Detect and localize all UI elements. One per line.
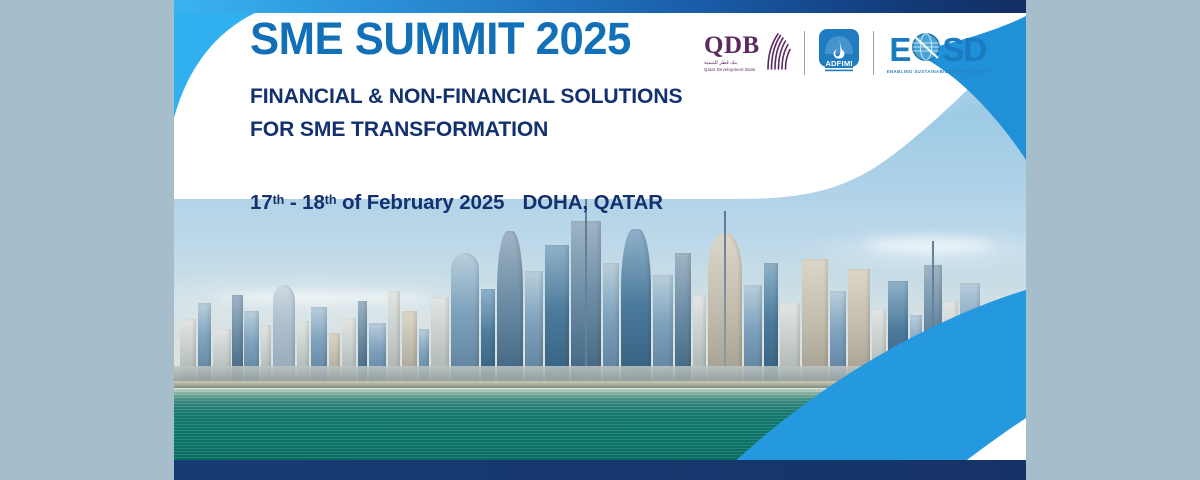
event-subtitle: FINANCIAL & NON-FINANCIAL SOLUTIONS FOR …: [250, 80, 711, 147]
qdb-acronym: QDB: [704, 34, 760, 58]
eosd-letter-s: S: [942, 33, 963, 66]
date-dash: -: [284, 191, 302, 214]
date-start-suffix: th: [273, 193, 285, 207]
logo-separator: [873, 31, 874, 75]
date-rest: of February 2025: [336, 191, 504, 214]
qdb-english-name: Qatar Development Bank: [704, 67, 760, 72]
partner-logos: QDB بنك قطر للتنمية Qatar Development Ba…: [704, 22, 989, 84]
eosd-wordmark: E S D: [887, 32, 989, 66]
subtitle-line-1: FINANCIAL & NON-FINANCIAL SOLUTIONS: [250, 80, 711, 113]
eosd-letter-e: E: [889, 33, 910, 66]
qdb-flame-icon: [765, 32, 791, 75]
corner-accent-bottom-right: [696, 290, 1026, 480]
qdb-arabic-name: بنك قطر للتنمية: [704, 60, 760, 67]
logo-qdb[interactable]: QDB بنك قطر للتنمية Qatar Development Ba…: [704, 32, 791, 75]
adfimi-wordmark: ADFIMI: [825, 59, 852, 68]
date-end-suffix: th: [325, 193, 337, 207]
event-title: SME SUMMIT 2025: [250, 16, 706, 61]
logo-separator: [804, 31, 805, 75]
qdb-text-lockup: QDB بنك قطر للتنمية Qatar Development Ba…: [704, 34, 760, 72]
date-start: 17: [250, 191, 273, 214]
eosd-globe-icon: [911, 32, 941, 67]
logo-adfimi[interactable]: ADFIMI: [818, 28, 860, 79]
event-banner: SME SUMMIT 2025 FINANCIAL & NON-FINANCIA…: [174, 0, 1026, 480]
bottom-navy-rule: [174, 460, 1026, 480]
eosd-letter-d: D: [963, 33, 986, 66]
page-root: SME SUMMIT 2025 FINANCIAL & NON-FINANCIA…: [0, 0, 1200, 480]
eosd-tagline: ENABLING SUSTAINABILITY WORLDWIDE: [887, 69, 989, 74]
logo-eosd[interactable]: E S D ENABLING SUSTAINABILITY WORLDWIDE: [887, 32, 989, 74]
subtitle-line-2: FOR SME TRANSFORMATION: [250, 113, 711, 146]
headline-block: SME SUMMIT 2025 FINANCIAL & NON-FINANCIA…: [250, 16, 720, 215]
event-date-location: 17th - 18th of February 2025DOHA, QATAR: [250, 191, 720, 215]
event-location: DOHA, QATAR: [522, 191, 663, 214]
date-end: 18: [302, 191, 325, 214]
top-gradient-rule: [174, 0, 1026, 13]
